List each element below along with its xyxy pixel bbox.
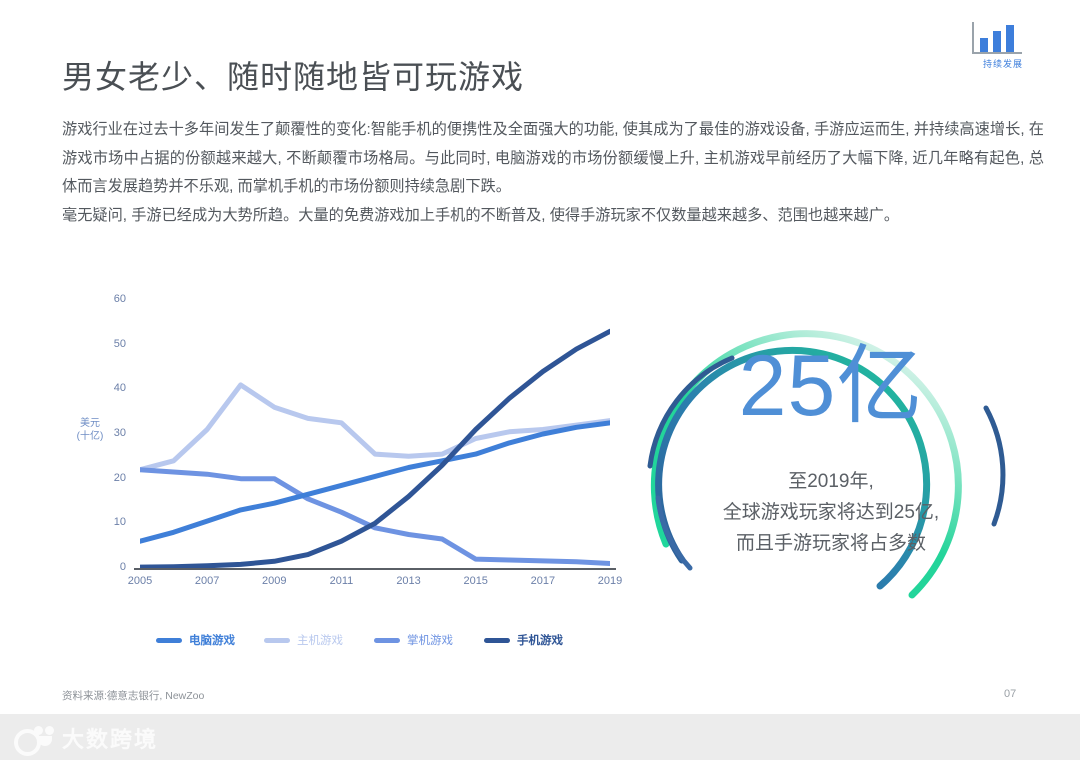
chart-x-tick-label: 2005	[120, 575, 160, 587]
logo-axis-vertical	[972, 22, 974, 52]
chart-legend-item[interactable]: 掌机游戏	[374, 630, 453, 650]
chart-legend: 电脑游戏主机游戏掌机游戏手机游戏	[156, 630, 656, 652]
source-note: 资料来源:德意志银行, NewZoo	[62, 688, 204, 703]
chart-series-line	[140, 331, 610, 567]
body-text: 游戏行业在过去十多年间发生了颠覆性的变化:智能手机的便携性及全面强大的功能, 使…	[62, 116, 1044, 230]
logo-bar-3	[1006, 25, 1014, 52]
body-paragraph-1: 游戏行业在过去十多年间发生了颠覆性的变化:智能手机的便携性及全面强大的功能, 使…	[62, 116, 1044, 202]
logo-bar-2	[993, 31, 1001, 52]
highlight-number: 25亿	[612, 338, 1050, 434]
paw-dot-2	[45, 726, 54, 735]
bar-chart-icon	[972, 22, 1024, 54]
chart-x-axis-line	[134, 568, 616, 570]
chart-y-tick-label: 60	[100, 293, 126, 305]
slide-canvas: 持续发展 男女老少、随时随地皆可玩游戏 游戏行业在过去十多年间发生了颠覆性的变化…	[0, 0, 1080, 714]
logo-axis-horizontal	[972, 52, 1022, 54]
logo-bar-1	[980, 38, 988, 52]
chart-x-tick-label: 2007	[187, 575, 227, 587]
chart-legend-item[interactable]: 手机游戏	[484, 630, 563, 650]
chart-legend-swatch	[374, 638, 400, 643]
chart-x-tick-label: 2017	[523, 575, 563, 587]
chart-x-tick-label: 2015	[456, 575, 496, 587]
chart-legend-swatch	[484, 638, 510, 643]
chart-legend-label: 主机游戏	[297, 632, 343, 648]
paw-dot-1	[34, 726, 43, 735]
line-chart: 美元 (十亿) 0102030405060 200520072009201120…	[56, 290, 626, 660]
highlight-caption-line-3: 而且手游玩家将占多数	[612, 528, 1050, 559]
chart-legend-label: 电脑游戏	[189, 632, 235, 648]
paw-logo-icon	[14, 724, 56, 752]
page-title: 男女老少、随时随地皆可玩游戏	[62, 52, 842, 98]
chart-legend-swatch	[264, 638, 290, 643]
highlight-caption: 至2019年, 全球游戏玩家将达到25亿, 而且手游玩家将占多数	[612, 466, 1050, 559]
chart-y-axis-title-main: 美元	[80, 418, 100, 429]
chart-series-svg	[140, 300, 610, 568]
chart-y-tick-label: 10	[100, 516, 126, 528]
watermark-bar: 大数跨境	[0, 714, 1080, 760]
brand-logo: 持续发展	[968, 22, 1038, 74]
chart-y-tick-label: 50	[100, 338, 126, 350]
chart-legend-label: 掌机游戏	[407, 632, 453, 648]
chart-y-tick-label: 30	[100, 427, 126, 439]
chart-x-tick-label: 2011	[321, 575, 361, 587]
chart-y-tick-label: 40	[100, 382, 126, 394]
chart-legend-item[interactable]: 电脑游戏	[156, 630, 235, 650]
chart-y-tick-label: 0	[100, 561, 126, 573]
watermark-text: 大数跨境	[62, 722, 158, 754]
chart-series-line	[140, 385, 610, 470]
body-paragraph-2: 毫无疑问, 手游已经成为大势所趋。大量的免费游戏加上手机的不断普及, 使得手游玩…	[62, 202, 1044, 231]
chart-y-tick-label: 20	[100, 472, 126, 484]
paw-pad	[38, 736, 52, 746]
chart-x-tick-label: 2009	[254, 575, 294, 587]
chart-series-line	[140, 470, 610, 564]
page-number: 07	[1004, 688, 1016, 700]
highlight-circle: 25亿 至2019年, 全球游戏玩家将达到25亿, 而且手游玩家将占多数	[612, 286, 1050, 626]
highlight-caption-line-2: 全球游戏玩家将达到25亿,	[612, 497, 1050, 528]
chart-legend-label: 手机游戏	[517, 632, 563, 648]
brand-logo-label: 持续发展	[968, 57, 1038, 70]
highlight-arcs	[612, 286, 1050, 626]
chart-legend-swatch	[156, 638, 182, 643]
highlight-caption-line-1: 至2019年,	[612, 466, 1050, 497]
chart-x-tick-label: 2013	[389, 575, 429, 587]
chart-legend-item[interactable]: 主机游戏	[264, 630, 343, 650]
chart-plot-area	[140, 300, 610, 568]
